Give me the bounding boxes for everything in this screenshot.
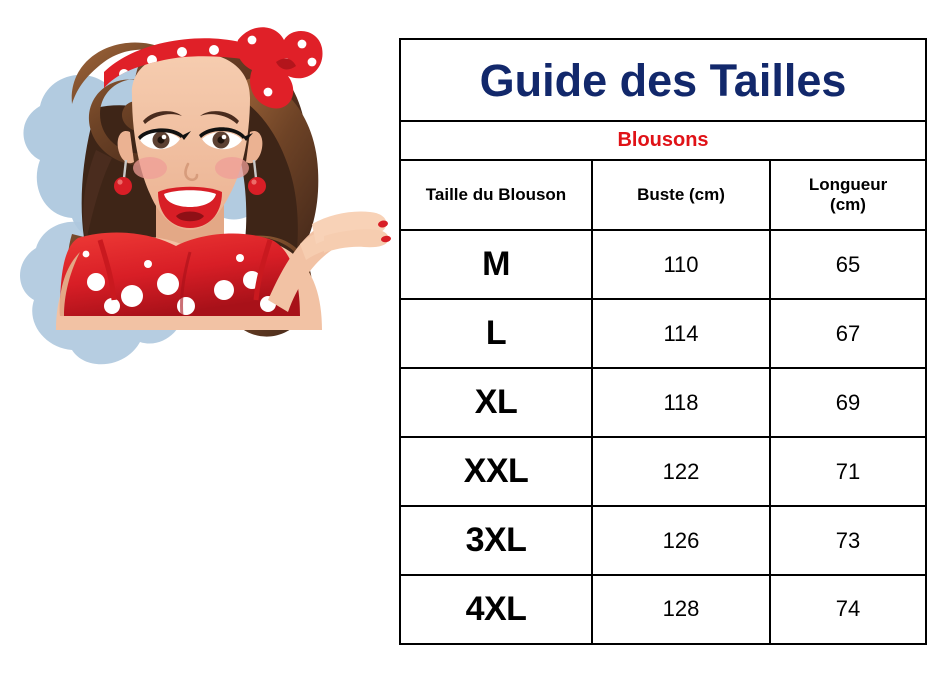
column-header-longueur-line2: (cm): [830, 195, 866, 214]
cell-longueur: 67: [770, 299, 926, 368]
cell-longueur: 71: [770, 437, 926, 506]
cell-longueur: 65: [770, 230, 926, 299]
column-header-taille: Taille du Blouson: [400, 160, 592, 230]
cell-longueur: 69: [770, 368, 926, 437]
cell-size: XXL: [400, 437, 592, 506]
table-row: XL 118 69: [400, 368, 926, 437]
cell-buste: 126: [592, 506, 770, 575]
cell-size: M: [400, 230, 592, 299]
table-title-cell: Guide des Tailles: [400, 39, 926, 121]
cell-longueur: 73: [770, 506, 926, 575]
column-header-buste: Buste (cm): [592, 160, 770, 230]
column-header-longueur: Longueur (cm): [770, 160, 926, 230]
polka-dot-top: [60, 232, 300, 316]
cell-longueur: 74: [770, 575, 926, 644]
pinup-illustration: [0, 0, 398, 693]
cell-buste: 118: [592, 368, 770, 437]
cell-size: 4XL: [400, 575, 592, 644]
cell-buste: 114: [592, 299, 770, 368]
column-header-longueur-line1: Longueur: [809, 175, 887, 194]
table-subtitle-row: Blousons: [400, 121, 926, 160]
table-title-row: Guide des Tailles: [400, 39, 926, 121]
table-row: XXL 122 71: [400, 437, 926, 506]
size-guide-table-container: Guide des Tailles Blousons Taille du Blo…: [399, 38, 925, 645]
cell-size: L: [400, 299, 592, 368]
category-label: Blousons: [617, 129, 708, 151]
table-row: 4XL 128 74: [400, 575, 926, 644]
table-header-row: Taille du Blouson Buste (cm) Longueur (c…: [400, 160, 926, 230]
table-row: M 110 65: [400, 230, 926, 299]
table-row: 3XL 126 73: [400, 506, 926, 575]
cell-buste: 122: [592, 437, 770, 506]
table-subtitle-cell: Blousons: [400, 121, 926, 160]
cell-size: XL: [400, 368, 592, 437]
page-title: Guide des Tailles: [480, 55, 847, 106]
cell-buste: 110: [592, 230, 770, 299]
table-row: L 114 67: [400, 299, 926, 368]
cell-buste: 128: [592, 575, 770, 644]
cell-size: 3XL: [400, 506, 592, 575]
size-guide-table: Guide des Tailles Blousons Taille du Blo…: [399, 38, 927, 645]
